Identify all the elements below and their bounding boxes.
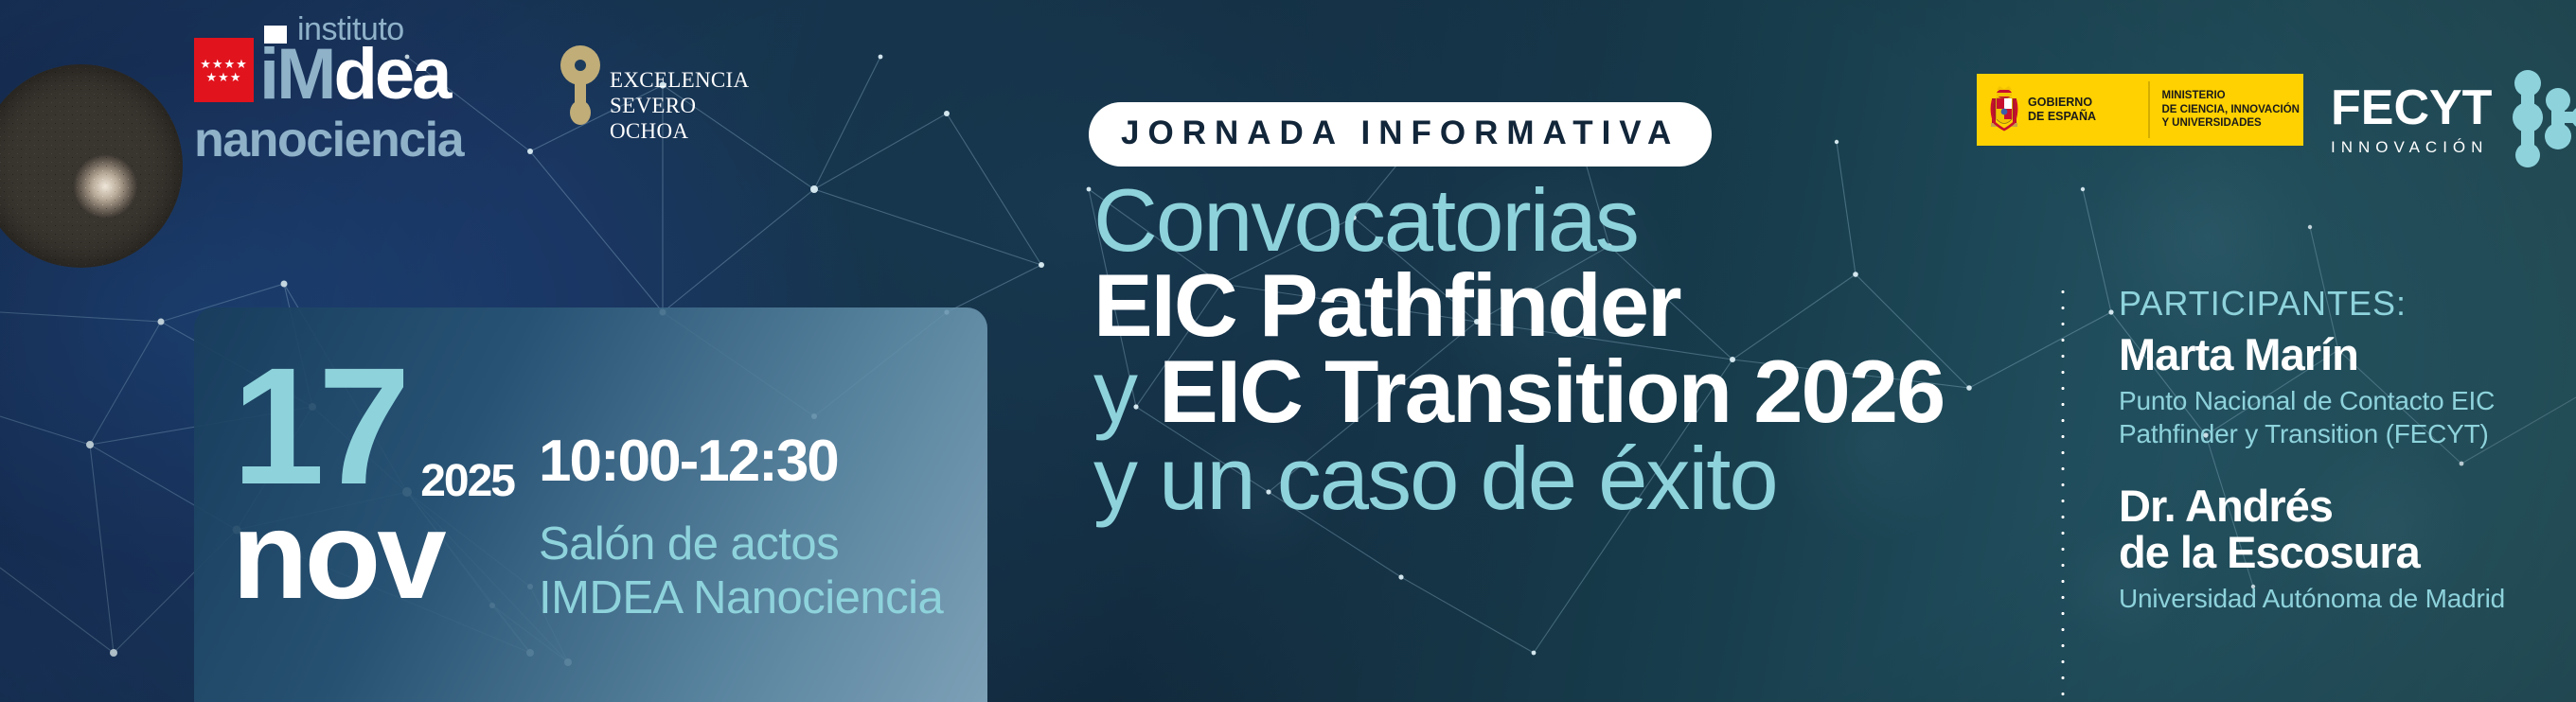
severo-ochoa-text: EXCELENCIA SEVERO OCHOA (610, 45, 749, 145)
participant-1-name: Marta Marín (2119, 332, 2564, 378)
headline-line-4: y un caso de éxito (1093, 438, 2163, 519)
date-block: 17 2025 nov (232, 362, 506, 605)
participant-2-name-line2: de la Escosura (2119, 530, 2564, 576)
event-banner: ★★★★ ★★★ instituto iMdea nanociencia EXC… (0, 0, 2576, 702)
participant-2-role-line1: Universidad Autónoma de Madrid (2119, 582, 2564, 615)
headline-line-3: y EIC Transition 2026 (1093, 351, 2163, 432)
instituto-tick-icon (264, 26, 287, 44)
ministerio-text: MINISTERIO DE CIENCIA, INNOVACIÓN Y UNIV… (2162, 89, 2300, 132)
participants-divider (2060, 284, 2066, 702)
event-time: 10:00-12:30 (539, 432, 943, 491)
participant-2-role: Universidad Autónoma de Madrid (2119, 582, 2564, 615)
jornada-badge: JORNADA INFORMATIVA (1089, 102, 1712, 167)
ministerio-line1: MINISTERIO (2162, 89, 2300, 103)
headline-line3-y: y (1093, 342, 1136, 441)
headline-line3-rest: EIC Transition 2026 (1159, 342, 1944, 441)
gobierno-de-espana-logo[interactable]: GOBIERNO DE ESPAÑA MINISTERIO DE CIENCIA… (1977, 74, 2303, 146)
fecyt-molecule-icon (2503, 68, 2576, 170)
participants-title: PARTICIPANTES: (2119, 284, 2564, 324)
instituto-label: instituto (297, 17, 404, 44)
nanociencia-label: nanociencia (194, 112, 463, 168)
participants-block: PARTICIPANTES: Marta Marín Punto Naciona… (2119, 284, 2564, 615)
spain-coat-of-arms-icon (1988, 85, 2020, 134)
imdea-logo-row: ★★★★ ★★★ instituto iMdea (194, 40, 463, 104)
imdea-wordmark: instituto iMdea (259, 45, 449, 104)
fecyt-logo[interactable]: FECYT INNOVACIÓN (2331, 68, 2576, 170)
star-row-top: ★★★★ (200, 58, 248, 70)
event-venue: Salón de actos IMDEA Nanociencia (539, 518, 943, 626)
ministerio-line3: Y UNIVERSIDADES (2162, 116, 2300, 131)
headline-line-2: EIC Pathfinder (1093, 265, 2163, 346)
madrid-stars: ★★★★ ★★★ (200, 58, 248, 83)
event-month: nov (232, 505, 506, 605)
gobierno-line2: DE ESPAÑA (2028, 110, 2096, 124)
fecyt-subtitle: INNOVACIÓN (2331, 139, 2492, 155)
headline-block: Convocatorias EIC Pathfinder y EIC Trans… (1093, 180, 2163, 520)
imdea-logo[interactable]: ★★★★ ★★★ instituto iMdea nanociencia (194, 40, 463, 168)
date-card: 17 2025 nov 10:00-12:30 Salón de actos I… (194, 307, 987, 702)
gobierno-line1: GOBIERNO (2028, 96, 2096, 110)
severo-ochoa-icon (560, 45, 600, 129)
madrid-flag-icon: ★★★★ ★★★ (194, 38, 254, 102)
ministerio-block: MINISTERIO DE CIENCIA, INNOVACIÓN Y UNIV… (2150, 89, 2300, 132)
severo-ochoa-logo[interactable]: EXCELENCIA SEVERO OCHOA (560, 45, 749, 145)
headline-line-1: Convocatorias (1093, 180, 2163, 261)
venue-line2: IMDEA Nanociencia (539, 571, 943, 625)
ministerio-line2: DE CIENCIA, INNOVACIÓN (2162, 103, 2300, 117)
severo-line1: EXCELENCIA (610, 68, 749, 94)
participant-1-role-line1: Punto Nacional de Contacto EIC (2119, 384, 2564, 417)
imdea-maintext: iMdea (259, 45, 449, 104)
participant-1-role-line2: Pathfinder y Transition (FECYT) (2119, 417, 2564, 450)
participants-spacer (2119, 450, 2564, 475)
participant-2-name: Dr. Andrés de la Escosura (2119, 483, 2564, 576)
star-row-bottom: ★★★ (206, 71, 242, 83)
participant-1-role: Punto Nacional de Contacto EIC Pathfinde… (2119, 384, 2564, 450)
fecyt-name: FECYT (2331, 83, 2492, 132)
severo-line3: OCHOA (610, 119, 749, 145)
gobierno-block: GOBIERNO DE ESPAÑA (1977, 85, 2148, 134)
time-venue-block: 10:00-12:30 Salón de actos IMDEA Nanocie… (506, 362, 943, 626)
gobierno-text: GOBIERNO DE ESPAÑA (2028, 96, 2096, 125)
fecyt-text: FECYT INNOVACIÓN (2331, 83, 2492, 155)
event-year: 2025 (420, 455, 514, 507)
participant-2-name-line1: Dr. Andrés (2119, 483, 2564, 530)
severo-line2: SEVERO (610, 94, 749, 119)
venue-line1: Salón de actos (539, 518, 943, 571)
